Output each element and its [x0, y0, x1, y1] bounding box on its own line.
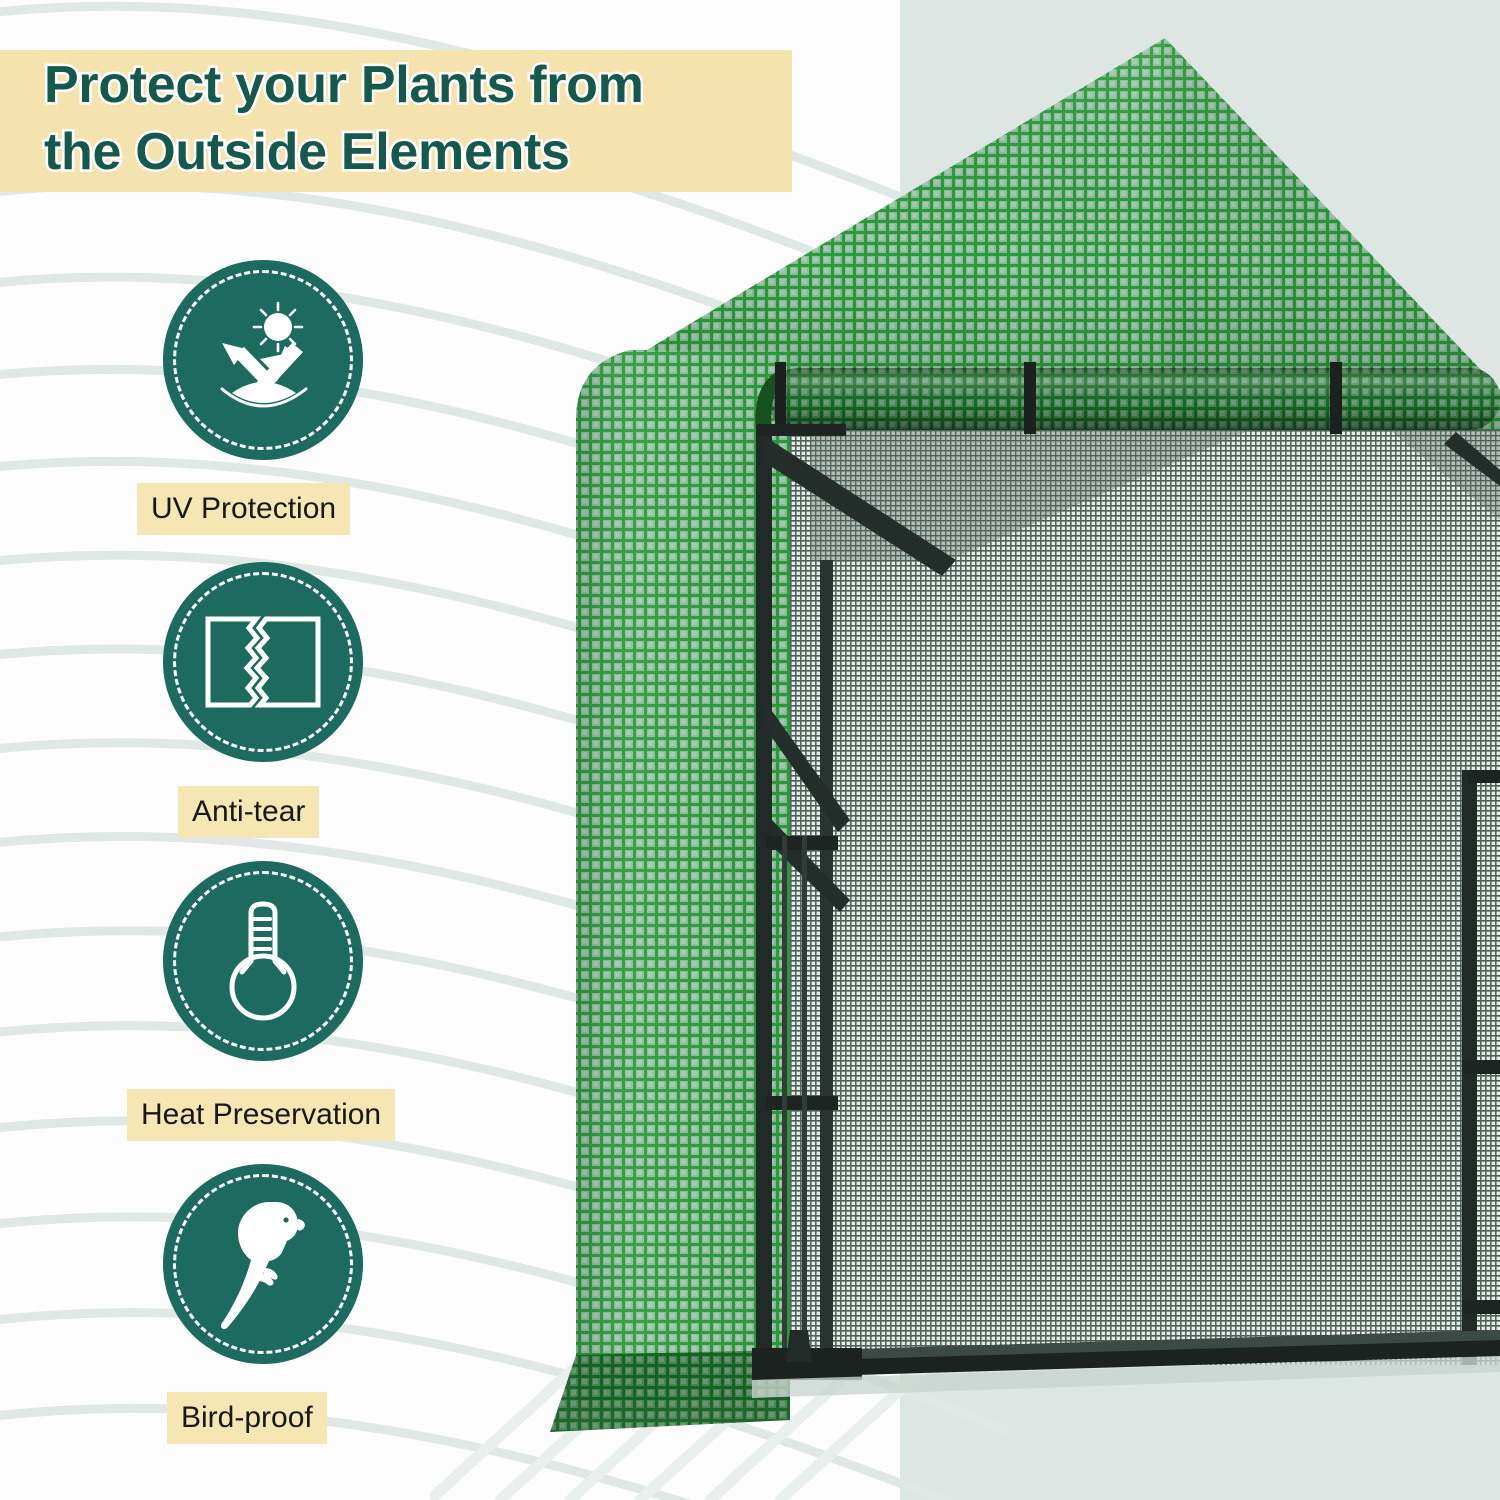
anti-tear-badge	[163, 562, 363, 762]
feature-item-bird-proof: Bird-proof	[0, 1164, 560, 1467]
feature-item-uv-protection: UV Protection	[0, 255, 560, 558]
thermometer-icon	[220, 899, 306, 1023]
feature-label-anti-tear: Anti-tear	[178, 786, 319, 838]
feature-list: UV Protection Anti-tear	[0, 255, 560, 1467]
greenhouse-mesh-front-panel	[790, 430, 1500, 1365]
feature-label-bird-proof: Bird-proof	[167, 1392, 327, 1444]
headline-line-1: Protect your Plants from	[44, 52, 804, 119]
greenhouse-product-image	[490, 0, 1500, 1500]
greenhouse-rolled-cover	[755, 368, 1500, 430]
uv-protection-badge	[163, 260, 363, 460]
feature-label-uv-protection: UV Protection	[137, 483, 350, 535]
torn-fabric-icon	[204, 614, 322, 710]
headline-line-2: the Outside Elements	[44, 119, 804, 186]
bird-proof-badge	[163, 1164, 363, 1364]
feature-item-heat-preservation: Heat Preservation	[0, 861, 560, 1164]
bird-parrot-icon	[203, 1194, 323, 1334]
sun-uv-rays-reflecting-icon	[200, 297, 326, 423]
heat-preservation-badge	[163, 861, 363, 1061]
infographic-canvas: Protect your Plants from the Outside Ele…	[0, 0, 1500, 1500]
feature-item-anti-tear: Anti-tear	[0, 558, 560, 861]
page-title: Protect your Plants from the Outside Ele…	[44, 52, 804, 185]
feature-label-heat-preservation: Heat Preservation	[127, 1089, 395, 1141]
